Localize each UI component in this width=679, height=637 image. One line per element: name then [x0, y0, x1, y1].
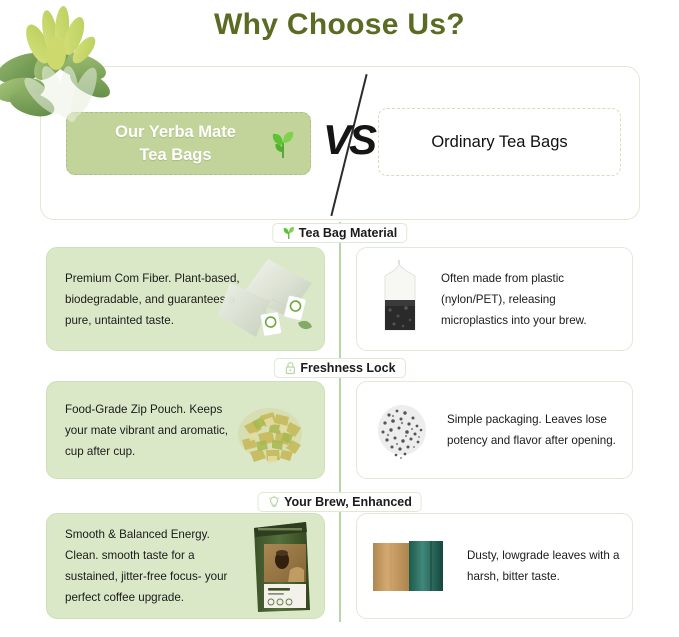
our-product-label: Our Yerba Mate Tea Bags: [115, 121, 262, 167]
versus-header: Our Yerba Mate Tea Bags VS Ordinary Tea …: [40, 66, 638, 218]
leaf-sprout-icon: [270, 129, 296, 159]
ordinary-cell-2-text: Simple packaging. Leaves lose potency an…: [433, 409, 632, 451]
pyramid-tea-bags-photo: [212, 253, 316, 345]
lock-icon: [283, 361, 296, 375]
comparison-row-1: Premium Com Fiber. Plant-based, biodegra…: [0, 247, 679, 351]
section-badge-label: Your Brew, Enhanced: [284, 495, 412, 509]
ordinary-product-card[interactable]: Ordinary Tea Bags: [378, 108, 621, 176]
section-badge-your-brew-enhanced: Your Brew, Enhanced: [257, 492, 422, 512]
our-product-label-line1: Our Yerba Mate: [115, 123, 236, 141]
section-badge-freshness-lock: Freshness Lock: [273, 358, 405, 378]
our-product-label-line2: Tea Bags: [139, 146, 211, 164]
ordinary-cell-3-text: Dusty, lowgrade leaves with a harsh, bit…: [453, 545, 632, 587]
section-badge-label: Tea Bag Material: [299, 226, 397, 240]
ordinary-cell-2: Simple packaging. Leaves lose potency an…: [356, 381, 633, 479]
ordinary-cell-1: Often made from plastic (nylon/PET), rel…: [356, 247, 633, 351]
loose-mate-leaves-photo: [224, 390, 316, 470]
comparison-row-3: Smooth & Balanced Energy. Clean. smooth …: [0, 513, 679, 619]
section-badge-label: Freshness Lock: [300, 361, 395, 375]
plastic-tea-bag-photo: [371, 260, 427, 338]
yerba-mate-pouch-photo: [244, 518, 316, 614]
leaf-icon: [282, 226, 295, 240]
our-cell-3: Smooth & Balanced Energy. Clean. smooth …: [46, 513, 325, 619]
our-cell-1: Premium Com Fiber. Plant-based, biodegra…: [46, 247, 325, 351]
our-cell-2-text: Food-Grade Zip Pouch. Keeps your mate vi…: [47, 399, 240, 462]
ordinary-product-label: Ordinary Tea Bags: [431, 133, 567, 152]
comparison-row-2: Food-Grade Zip Pouch. Keeps your mate vi…: [0, 381, 679, 479]
ordinary-cell-1-text: Often made from plastic (nylon/PET), rel…: [427, 268, 632, 331]
ordinary-cell-3: Dusty, lowgrade leaves with a harsh, bit…: [356, 513, 633, 619]
our-cell-3-text: Smooth & Balanced Energy. Clean. smooth …: [47, 524, 240, 608]
lightbulb-icon: [267, 495, 280, 509]
plain-packaging-rolls-photo: [371, 539, 453, 593]
our-product-card[interactable]: Our Yerba Mate Tea Bags: [66, 112, 311, 175]
section-badge-tea-bag-material: Tea Bag Material: [272, 223, 407, 243]
page-title: Why Choose Us?: [0, 8, 679, 42]
dusty-grey-leaves-photo: [371, 399, 433, 461]
our-cell-2: Food-Grade Zip Pouch. Keeps your mate vi…: [46, 381, 325, 479]
